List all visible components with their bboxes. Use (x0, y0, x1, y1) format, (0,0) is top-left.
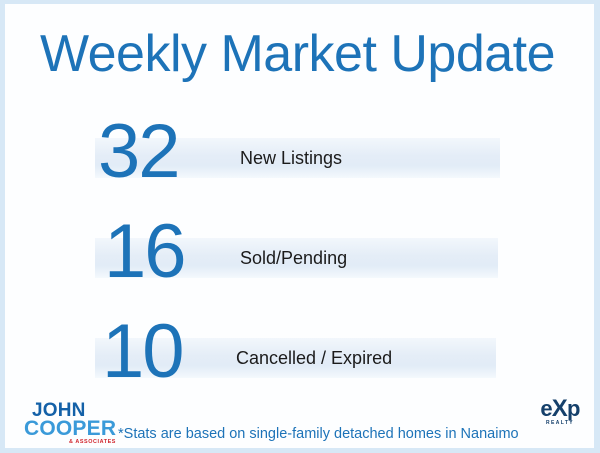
stat-row: 16 Sold/Pending (0, 212, 600, 302)
stat-value: 32 (98, 104, 198, 200)
brokerage-logo-e: e (540, 396, 551, 421)
brokerage-logo-p: p (567, 396, 580, 421)
slide-canvas: Weekly Market Update 32 New Listings 16 … (0, 0, 600, 453)
brokerage-logo-wordmark: eXp (532, 398, 588, 420)
agent-logo-line2: COOPER (24, 419, 116, 438)
agent-logo: JOHN COOPER & ASSOCIATES (24, 402, 116, 447)
frame-edge-bottom (0, 448, 600, 453)
stat-label: Sold/Pending (240, 242, 347, 274)
brokerage-logo-x: X (552, 395, 567, 422)
stat-label: Cancelled / Expired (236, 342, 392, 374)
stat-value: 16 (104, 204, 204, 300)
brokerage-logo-tagline: REALTY (532, 420, 588, 427)
stat-label: New Listings (240, 142, 342, 174)
footnote-text: *Stats are based on single-family detach… (118, 424, 588, 444)
brokerage-logo: eXp REALTY (532, 398, 588, 428)
page-title: Weekly Market Update (40, 24, 580, 84)
stat-row: 10 Cancelled / Expired (0, 312, 600, 402)
stat-value: 10 (102, 304, 202, 400)
stat-row: 32 New Listings (0, 112, 600, 202)
